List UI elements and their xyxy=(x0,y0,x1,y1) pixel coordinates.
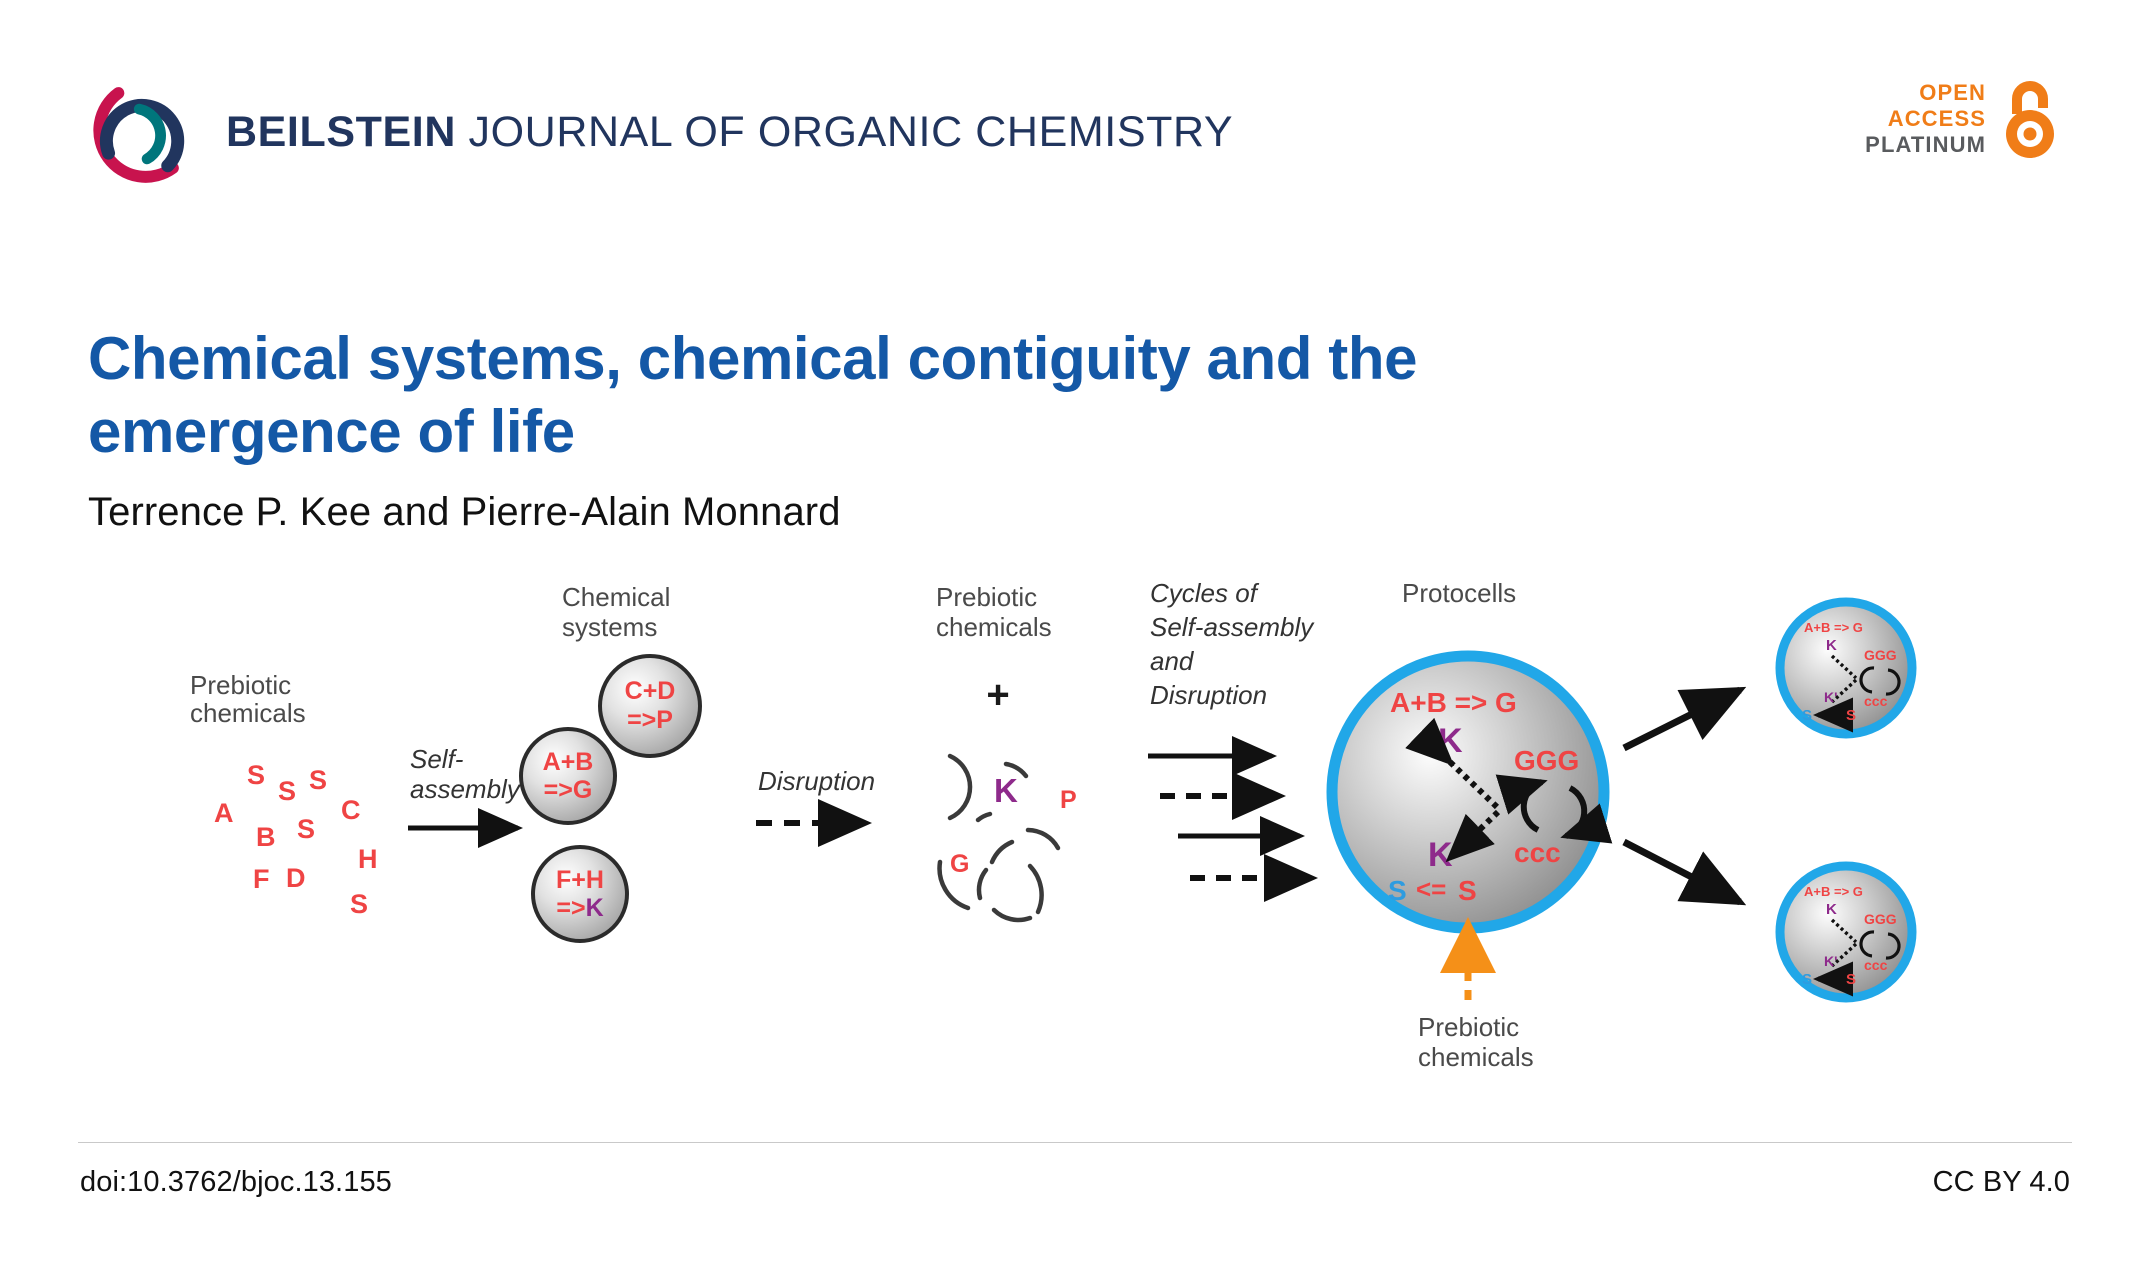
daughter-top-substrate-in: S xyxy=(1846,707,1856,724)
protocell-template-top: GGG xyxy=(1514,745,1579,776)
label-prebiotic-mid-line2: chemicals xyxy=(936,612,1052,642)
open-padlock-icon xyxy=(2000,78,2060,160)
protocell-reaction: A+B => G xyxy=(1390,687,1517,718)
chem-letter: H xyxy=(358,844,378,874)
daughter-top-catalyst: K xyxy=(1826,637,1837,654)
daughter-protocell-top: A+B => G K GGG ccc K' S S xyxy=(1780,602,1912,734)
protocell-substrate-out: S xyxy=(1388,875,1407,906)
open-access-line-platinum: PLATINUM xyxy=(1865,132,1986,158)
masthead-subtitle: JOURNAL OF ORGANIC CHEMISTRY xyxy=(456,108,1233,156)
graphical-abstract-figure: Prebiotic chemicals S S S A C B S H F D … xyxy=(150,580,2030,1100)
sphere-fh-k-line1: F+H xyxy=(556,866,604,894)
sphere-cd-p-line2: =>P xyxy=(627,706,673,734)
label-protocells: Protocells xyxy=(1402,580,1516,608)
protocell-template-bottom: ccc xyxy=(1514,837,1561,868)
fragment-g: G xyxy=(950,850,969,878)
label-disruption: Disruption xyxy=(758,766,875,796)
label-self-assembly-line2: assembly xyxy=(410,774,522,804)
figure-canvas: Prebiotic chemicals S S S A C B S H F D … xyxy=(150,580,2030,1100)
chem-letter: A xyxy=(214,798,234,828)
masthead-title: BEILSTEIN JOURNAL OF ORGANIC CHEMISTRY xyxy=(226,111,1233,154)
daughter-top-substrate-out: S xyxy=(1802,707,1812,724)
label-prebiotic-bottom-line2: chemicals xyxy=(1418,1042,1534,1072)
plus-symbol: + xyxy=(986,673,1009,717)
chem-letter: C xyxy=(341,795,361,825)
journal-masthead: BEILSTEIN JOURNAL OF ORGANIC CHEMISTRY xyxy=(90,78,1233,186)
chem-letter: S xyxy=(297,814,315,844)
doi-text: doi:10.3762/bjoc.13.155 xyxy=(80,1166,392,1199)
chem-letter: F xyxy=(253,864,270,894)
chem-letter: S xyxy=(247,760,265,790)
chemical-systems-group: Chemical systems C+D =>P A+B =>G F+H =>K xyxy=(521,582,700,941)
page-title: Chemical systems, chemical contiguity an… xyxy=(88,322,1688,468)
label-prebiotic-bottom-line1: Prebiotic xyxy=(1418,1012,1519,1042)
fragment-k: K xyxy=(994,772,1018,809)
daughter-bottom-substrate-out: S xyxy=(1802,971,1812,988)
prebiotic-chemicals-group-left: Prebiotic chemicals S S S A C B S H F D … xyxy=(190,670,378,919)
chem-letter: B xyxy=(256,822,276,852)
sphere-cd-p: C+D =>P xyxy=(600,656,700,756)
label-cycles-line1: Cycles of xyxy=(1150,580,1260,608)
protocell-group: Protocells A+B => G K K' GGG ccc S <= S … xyxy=(1332,580,1604,1072)
daughter-bottom-template-bottom: ccc xyxy=(1864,957,1888,973)
label-chemical-systems-line1: Chemical xyxy=(562,582,670,612)
division-arrow-up xyxy=(1624,690,1740,748)
chem-letter: S xyxy=(309,765,327,795)
daughter-bottom-substrate-in: S xyxy=(1846,971,1856,988)
label-prebiotic-left-line2: chemicals xyxy=(190,698,306,728)
label-chemical-systems-line2: systems xyxy=(562,612,657,642)
footer-divider xyxy=(78,1142,2072,1143)
division-arrow-down xyxy=(1624,842,1740,902)
daughter-top-template-top: GGG xyxy=(1864,647,1897,663)
daughter-bottom-reaction: A+B => G xyxy=(1804,884,1863,899)
daughter-top-catalyst-prime: K' xyxy=(1824,689,1837,705)
sphere-fh-k-line2: =>K xyxy=(556,894,603,922)
sphere-fh-k-accent: K xyxy=(586,894,604,922)
open-access-badge: OPEN ACCESS PLATINUM xyxy=(1865,78,2060,160)
sphere-ab-g-line2: =>G xyxy=(544,776,593,804)
label-prebiotic-left-line1: Prebiotic xyxy=(190,670,291,700)
sphere-ab-g-line1: A+B xyxy=(543,748,594,776)
scattered-chemical-letters: S S S A C B S H F D S xyxy=(214,760,378,919)
open-access-line-access: ACCESS xyxy=(1865,106,1986,132)
daughter-top-reaction: A+B => G xyxy=(1804,620,1863,635)
label-cycles-line3: and xyxy=(1150,646,1195,676)
author-list: Terrence P. Kee and Pierre-Alain Monnard xyxy=(88,490,1788,535)
license-text: CC BY 4.0 xyxy=(1933,1166,2070,1199)
daughter-bottom-catalyst-prime: K' xyxy=(1824,953,1837,969)
disruption-arrow-group: Disruption xyxy=(756,766,875,823)
daughter-bottom-template-top: GGG xyxy=(1864,911,1897,927)
sphere-fh-k: F+H =>K xyxy=(533,847,627,941)
chem-letter: S xyxy=(350,889,368,919)
daughter-top-template-bottom: ccc xyxy=(1864,693,1888,709)
daughter-bottom-catalyst: K xyxy=(1826,901,1837,918)
open-access-text: OPEN ACCESS PLATINUM xyxy=(1865,80,1986,158)
open-access-line-open: OPEN xyxy=(1865,80,1986,106)
chem-letter: S xyxy=(278,776,296,806)
disrupted-chemicals-group: Prebiotic chemicals + K P G xyxy=(936,582,1077,920)
cycles-arrow-group: Cycles of Self-assembly and Disruption xyxy=(1148,580,1315,878)
self-assembly-arrow-group: Self- assembly xyxy=(408,744,522,828)
fragment-p: P xyxy=(1060,786,1077,814)
beilstein-swirl-logo xyxy=(90,78,198,186)
protocell-substrate-in: S xyxy=(1458,875,1477,906)
sphere-ab-g: A+B =>G xyxy=(521,729,615,823)
label-self-assembly-line1: Self- xyxy=(410,744,464,774)
label-cycles-line2: Self-assembly xyxy=(1150,612,1315,642)
daughter-protocell-bottom: A+B => G K GGG ccc K' S S xyxy=(1780,866,1912,998)
sphere-cd-p-line1: C+D xyxy=(625,677,676,705)
protocell-catalyst: K xyxy=(1438,722,1463,760)
protocell-substrate-arrow: <= xyxy=(1416,874,1446,904)
label-cycles-line4: Disruption xyxy=(1150,680,1267,710)
label-prebiotic-mid-line1: Prebiotic xyxy=(936,582,1037,612)
chem-letter: D xyxy=(286,863,306,893)
masthead-brand: BEILSTEIN xyxy=(226,108,456,156)
